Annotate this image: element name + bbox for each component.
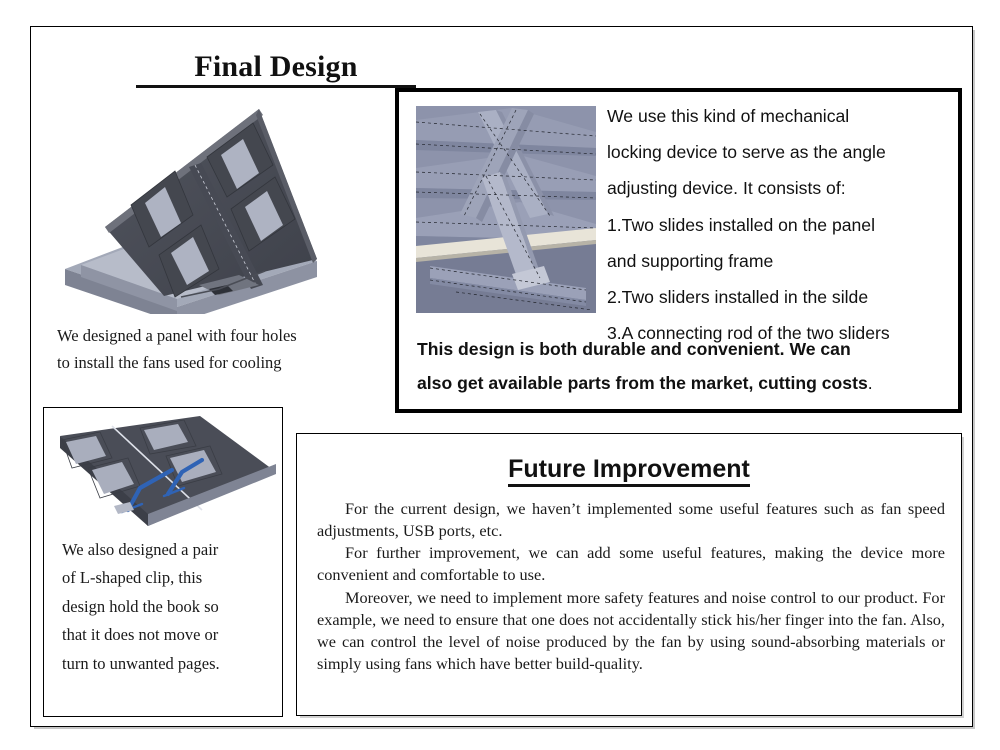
mechanism-description-line: locking device to serve as the angle [607, 134, 957, 170]
cad-clip-render [52, 414, 276, 526]
panel-caption-line: We designed a panel with four holes [57, 323, 377, 350]
clip-caption-line: design hold the book so [62, 593, 268, 621]
mechanism-conclusion-line: This design is both durable and convenie… [417, 332, 955, 366]
future-improvement-title-text: Future Improvement [508, 455, 750, 487]
panel-caption: We designed a panel with four holes to i… [57, 323, 377, 376]
future-paragraph: Moreover, we need to implement more safe… [317, 587, 945, 676]
mechanism-description: We use this kind of mechanical locking d… [607, 98, 957, 352]
clip-caption-line: of L-shaped clip, this [62, 564, 268, 592]
future-paragraph: For further improvement, we can add some… [317, 542, 945, 586]
mechanism-conclusion-period: . [868, 373, 873, 393]
mechanism-description-line: 2.Two sliders installed in the silde [607, 279, 957, 315]
future-improvement-title: Future Improvement [297, 456, 961, 484]
clip-caption-line: that it does not move or [62, 621, 268, 649]
clip-caption-line: We also designed a pair [62, 536, 268, 564]
mechanism-conclusion: This design is both durable and convenie… [417, 332, 955, 401]
future-improvement-box: Future Improvement For the current desig… [296, 433, 962, 716]
future-paragraph: For the current design, we haven’t imple… [317, 498, 945, 542]
mechanism-description-line: We use this kind of mechanical [607, 98, 957, 134]
page-title: Final Design [136, 51, 416, 88]
mechanism-description-line: 1.Two slides installed on the panel [607, 207, 957, 243]
clip-caption-line: turn to unwanted pages. [62, 650, 268, 678]
mechanism-description-line: and supporting frame [607, 243, 957, 279]
mechanism-description-line: adjusting device. It consists of: [607, 170, 957, 206]
clip-design-box: We also designed a pair of L-shaped clip… [43, 407, 283, 717]
mechanism-conclusion-line-wrap: also get available parts from the market… [417, 366, 955, 400]
future-improvement-body: For the current design, we haven’t imple… [317, 498, 945, 675]
cad-mechanism-render [416, 106, 596, 313]
panel-caption-line: to install the fans used for cooling [57, 350, 377, 377]
mechanism-panel: We use this kind of mechanical locking d… [395, 88, 962, 413]
cad-main-render [59, 99, 399, 314]
slide-canvas: Final Design [30, 26, 973, 727]
mechanism-conclusion-line: also get available parts from the market… [417, 373, 868, 393]
clip-caption: We also designed a pair of L-shaped clip… [62, 536, 268, 678]
